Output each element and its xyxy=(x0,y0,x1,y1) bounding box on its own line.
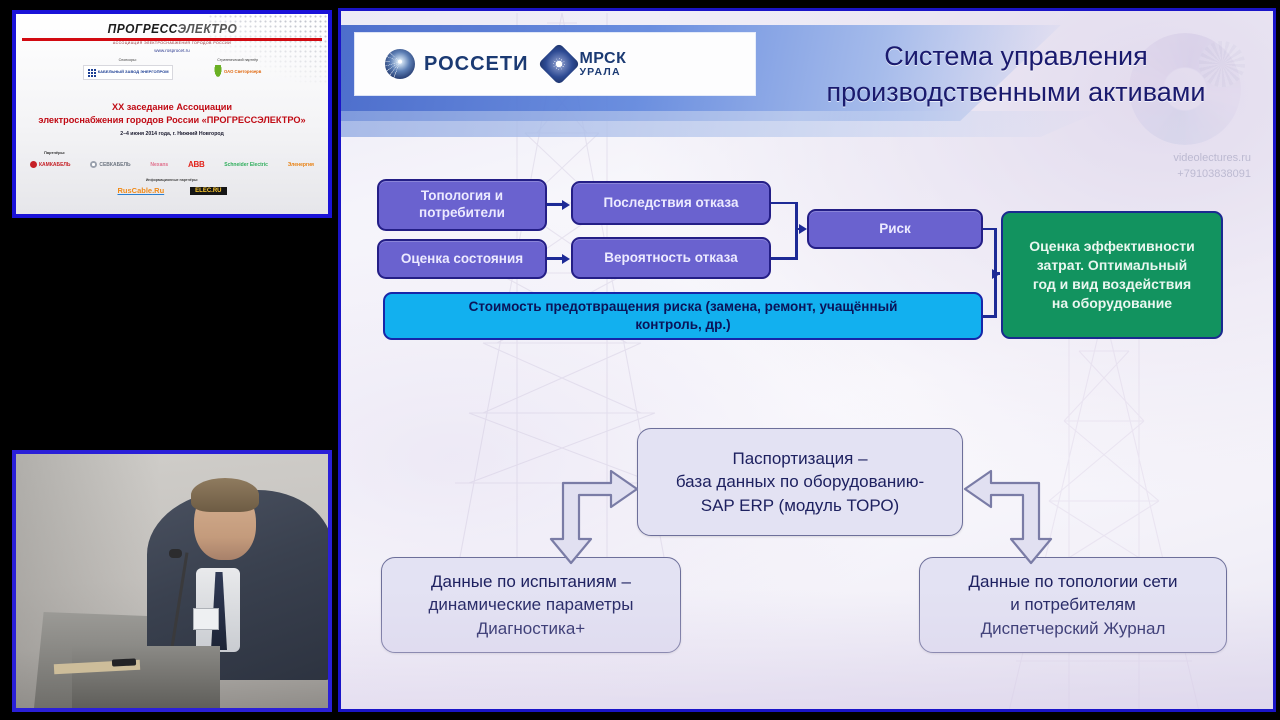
poster-heading-line1: XX заседание Ассоциации xyxy=(16,102,328,112)
podium-front xyxy=(72,646,220,708)
poster-canvas: ПРОГРЕССЭЛЕКТРО АССОЦИАЦИЯ ЭЛЕКТРОСНАБЖЕ… xyxy=(16,14,328,214)
sponsor-grid-icon xyxy=(87,68,96,77)
info-partners-row: RusCable.Ru ELEC.RU xyxy=(16,186,328,195)
conference-poster-panel: ПРОГРЕССЭЛЕКТРО АССОЦИАЦИЯ ЭЛЕКТРОСНАБЖЕ… xyxy=(12,10,332,218)
speaker-scene xyxy=(16,454,328,708)
partner-logo: СЕВКАБЕЛЬ xyxy=(90,161,130,168)
partners-row: КАМКАБЕЛЬ СЕВКАБЕЛЬ Nexans ABB Schneider… xyxy=(30,160,314,169)
partners-caption: Партнёры: xyxy=(44,150,65,155)
poster-brand-logo: ПРОГРЕССЭЛЕКТРО xyxy=(16,20,328,38)
partner-dot-icon xyxy=(30,161,37,168)
poster-date: 2–4 июня 2014 года, г. Нижний Новгород xyxy=(16,131,328,137)
sponsor-right-logo: ОАО Светорезерв xyxy=(214,65,261,78)
flow-box-passportization-label: Паспортизация – база данных по оборудова… xyxy=(676,447,924,517)
podium-pen xyxy=(112,658,136,666)
partner-logo: Nexans xyxy=(150,162,168,168)
info-partners-caption: Информационные партнёры: xyxy=(16,178,328,182)
speaker-video-panel xyxy=(12,450,332,712)
speaker-hair xyxy=(191,478,259,512)
partner-logo: Schneider Electric xyxy=(224,162,268,168)
poster-sponsors-row: Спонсоры: КАБЕЛЬНЫЙ ЗАВОД ЭНЕРГОПРОМ Стр… xyxy=(16,58,328,80)
slide-bottom-glow xyxy=(341,589,1273,709)
partner-logo: Эленергия xyxy=(288,162,314,168)
block-arrow-left xyxy=(549,467,645,567)
sponsor-right-caption: Стратегический партнёр xyxy=(214,58,261,62)
poster-brand-text: ПРОГРЕССЭЛЕКТРО xyxy=(107,21,237,36)
sponsor-right: Стратегический партнёр ОАО Светорезерв xyxy=(214,58,261,80)
poster-url: www.rosprocet.ru xyxy=(16,48,328,53)
flow-box-passportization: Паспортизация – база данных по оборудова… xyxy=(637,428,963,536)
sponsor-left-logo: КАБЕЛЬНЫЙ ЗАВОД ЭНЕРГОПРОМ xyxy=(83,65,173,80)
partner-logo: ABB xyxy=(188,160,204,169)
presentation-slide-panel: videolectures.ru +79103838091 РОССЕТИ МР… xyxy=(338,8,1276,712)
poster-brand-subtitle: АССОЦИАЦИЯ ЭЛЕКТРОСНАБЖЕНИЯ ГОРОДОВ РОСС… xyxy=(16,41,328,45)
sponsor-left-caption: Спонсоры: xyxy=(83,58,173,62)
partner-ring-icon xyxy=(90,161,97,168)
poster-heading-line2: электроснабжения городов России «ПРОГРЕС… xyxy=(16,115,328,125)
sponsor-left-name: КАБЕЛЬНЫЙ ЗАВОД ЭНЕРГОПРОМ xyxy=(98,70,169,75)
block-arrow-right xyxy=(957,467,1053,567)
video-player-frame: ПРОГРЕССЭЛЕКТРО АССОЦИАЦИЯ ЭЛЕКТРОСНАБЖЕ… xyxy=(0,0,1280,720)
info-partner-elecru: ELEC.RU xyxy=(190,187,226,195)
info-partner-ruscable: RusCable.Ru xyxy=(117,186,164,195)
tree-icon xyxy=(214,65,222,78)
microphone-icon xyxy=(169,549,182,558)
partner-logo: КАМКАБЕЛЬ xyxy=(30,161,71,168)
speaker-badge xyxy=(193,608,219,630)
sponsor-left: Спонсоры: КАБЕЛЬНЫЙ ЗАВОД ЭНЕРГОПРОМ xyxy=(83,58,173,80)
sponsor-right-name: ОАО Светорезерв xyxy=(224,69,261,74)
